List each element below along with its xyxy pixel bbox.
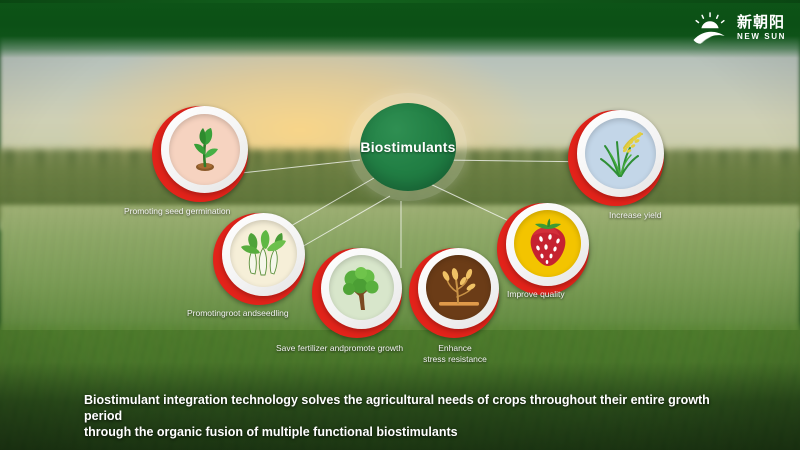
- background-photo: [0, 0, 800, 450]
- rice-grass-icon: [585, 118, 656, 189]
- node-label: Promotingroot andseedling: [187, 308, 289, 319]
- wilting-grain-icon: [426, 255, 491, 320]
- node-badge: [213, 213, 305, 305]
- node-badge: [409, 248, 499, 338]
- strawberry-icon: [514, 210, 581, 277]
- node-label: Improve quality: [507, 289, 565, 300]
- node-badge: [152, 106, 248, 202]
- brand-logo-text: 新朝阳 NEW SUN: [737, 15, 786, 41]
- node-improve-quality[interactable]: Improve quality: [497, 203, 589, 295]
- node-badge: [497, 203, 589, 295]
- bok-choy-icon: [230, 220, 297, 287]
- hub-core-circle: Biostimulants: [360, 103, 456, 191]
- caption-line-2: through the organic fusion of multiple f…: [84, 424, 734, 440]
- top-banner-accent-line: [0, 0, 800, 3]
- sprout-icon: [169, 114, 240, 185]
- node-label: Save fertilizer andpromote growth: [276, 343, 403, 354]
- top-banner: [0, 0, 800, 58]
- node-increase-yield[interactable]: Increase yield: [568, 110, 664, 206]
- node-promoting-seed-germination[interactable]: Promoting seed germination: [152, 106, 248, 202]
- node-label: Increase yield: [609, 210, 661, 221]
- node-badge: [568, 110, 664, 206]
- node-enhance-stress-resistance[interactable]: Enhance stress resistance: [409, 248, 499, 338]
- background-vignette: [0, 0, 800, 450]
- caption-block: Biostimulant integration technology solv…: [84, 392, 734, 440]
- sun-over-field-logo-icon: [690, 11, 730, 45]
- slide-canvas: 新朝阳 NEW SUN Biostimulants: [0, 0, 800, 450]
- node-save-fertilizer-and-promote-growth[interactable]: Save fertilizer andpromote growth: [312, 248, 402, 338]
- node-promoting-root-and-seedling[interactable]: Promotingroot andseedling: [213, 213, 305, 305]
- brand-name-cn: 新朝阳: [737, 15, 785, 30]
- node-label: Enhance stress resistance: [410, 343, 500, 365]
- tree-icon: [329, 255, 394, 320]
- node-badge: [312, 248, 402, 338]
- caption-line-1: Biostimulant integration technology solv…: [84, 392, 734, 424]
- brand-logo[interactable]: 新朝阳 NEW SUN: [690, 8, 786, 48]
- hub-biostimulants[interactable]: Biostimulants: [349, 93, 467, 201]
- hub-label: Biostimulants: [360, 139, 455, 155]
- brand-name-en: NEW SUN: [737, 33, 786, 41]
